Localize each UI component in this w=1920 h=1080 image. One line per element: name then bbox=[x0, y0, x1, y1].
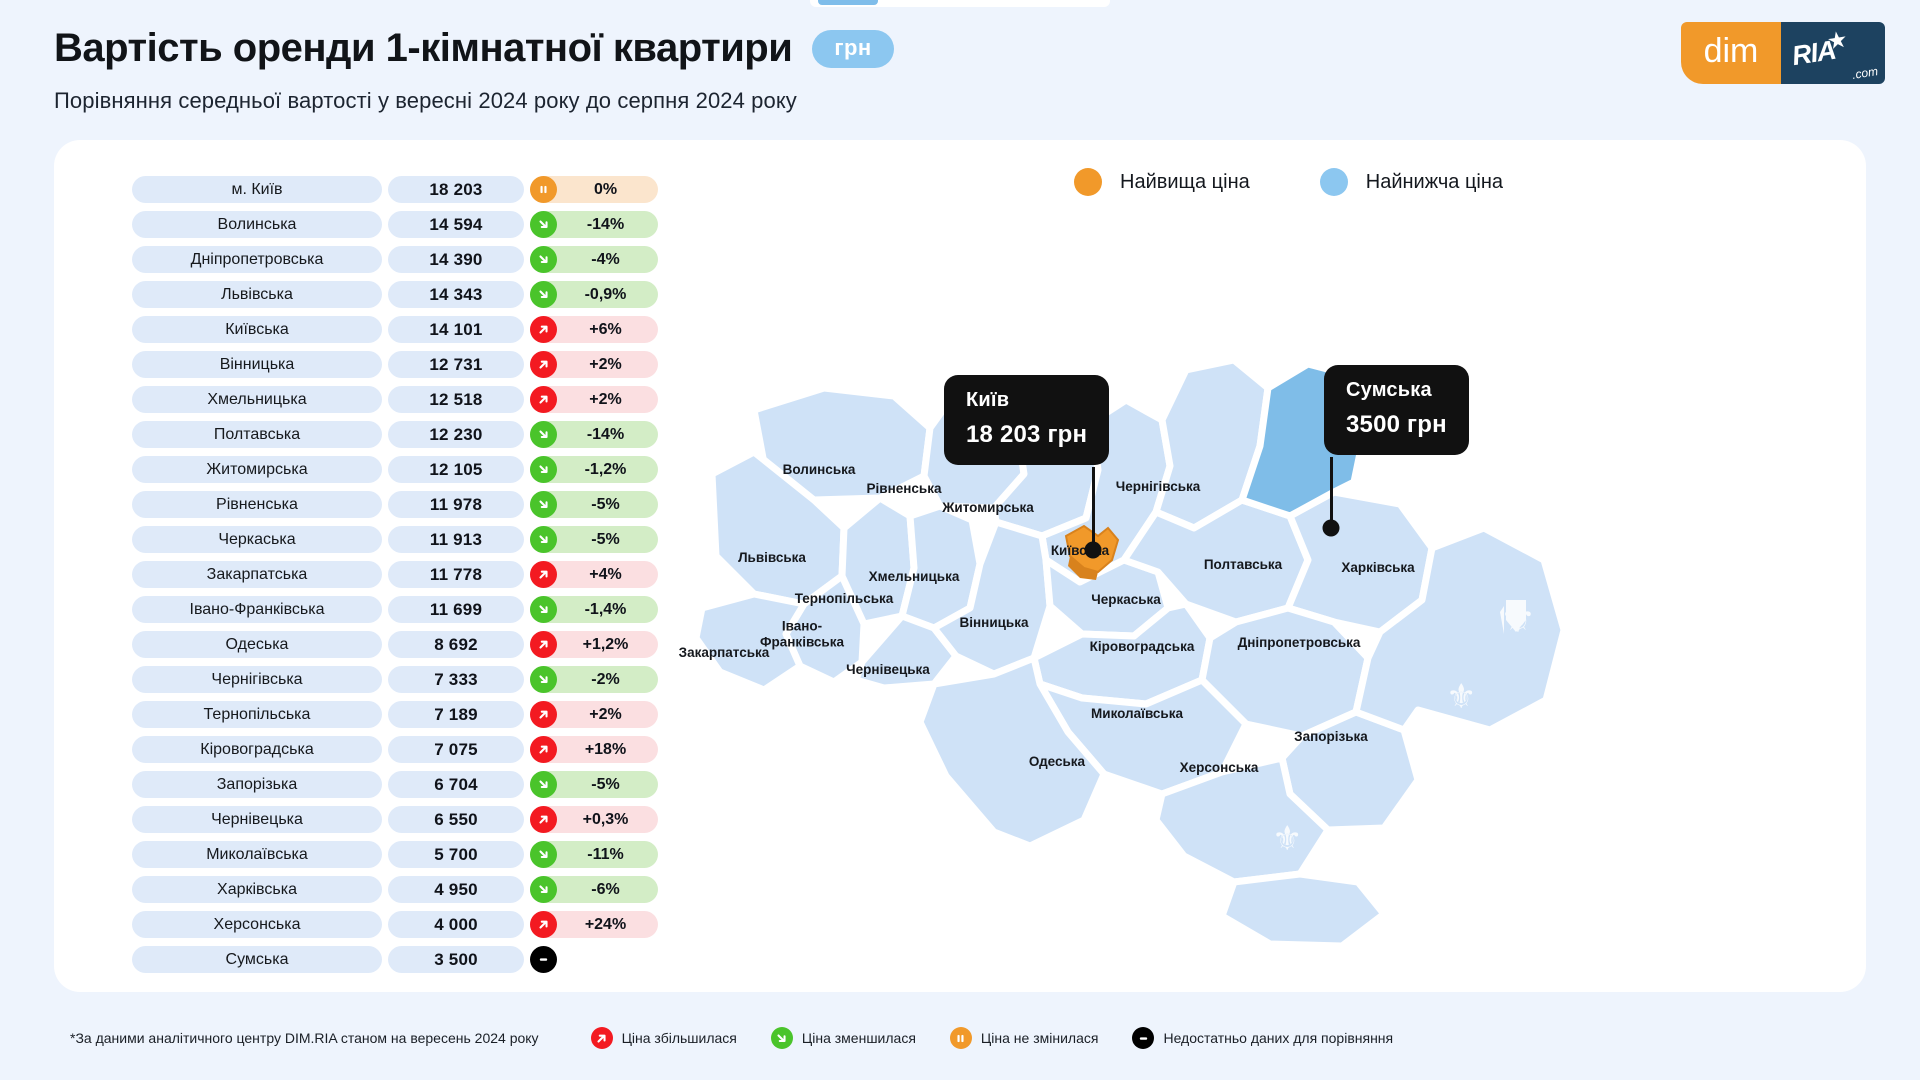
region-name: Дніпропетровська bbox=[132, 246, 382, 273]
minus-icon bbox=[1132, 1027, 1154, 1049]
table-row: Запорізька6 704-5% bbox=[132, 771, 712, 798]
table-row: Чернівецька6 550+0,3% bbox=[132, 806, 712, 833]
logo-dim-text: dim bbox=[1681, 22, 1781, 84]
region-name: Івано-Франківська bbox=[132, 596, 382, 623]
footer-legend-label: Ціна збільшилася bbox=[622, 1030, 737, 1046]
pause-icon bbox=[950, 1027, 972, 1049]
arrow-down-right-icon bbox=[771, 1027, 793, 1049]
arrow-down-right-icon bbox=[530, 596, 557, 623]
table-row: Хмельницька12 518+2% bbox=[132, 386, 712, 413]
footer-legend-items: Ціна збільшиласяЦіна зменшиласяЦіна не з… bbox=[591, 1027, 1394, 1049]
arrow-down-right-icon bbox=[530, 876, 557, 903]
region-change: -5% bbox=[530, 526, 658, 553]
region-price: 6 550 bbox=[388, 806, 524, 833]
region-change: -0,9% bbox=[530, 281, 658, 308]
region-name: Сумська bbox=[132, 946, 382, 973]
map-label: Рівненська bbox=[867, 481, 942, 497]
region-change-text: -0,9% bbox=[557, 286, 658, 304]
table-row: Вінницька12 731+2% bbox=[132, 351, 712, 378]
region-change: +1,2% bbox=[530, 631, 658, 658]
map-label: Закарпатська bbox=[679, 645, 770, 661]
region-price: 11 913 bbox=[388, 526, 524, 553]
region-change: +24% bbox=[530, 911, 658, 938]
table-row: Черкаська11 913-5% bbox=[132, 526, 712, 553]
region-price: 11 699 bbox=[388, 596, 524, 623]
region-change: -1,2% bbox=[530, 456, 658, 483]
arrow-down-right-icon bbox=[530, 281, 557, 308]
region-change: +4% bbox=[530, 561, 658, 588]
arrow-up-right-icon bbox=[530, 736, 557, 763]
region-price: 4 000 bbox=[388, 911, 524, 938]
callout-sumy-stem bbox=[1330, 457, 1333, 528]
map-label: Полтавська bbox=[1204, 557, 1282, 573]
region-price: 7 075 bbox=[388, 736, 524, 763]
region-name: Житомирська bbox=[132, 456, 382, 483]
region-price-table: м. Київ18 2030%Волинська14 594-14%Дніпро… bbox=[132, 176, 712, 981]
region-change: +2% bbox=[530, 386, 658, 413]
region-change: -4% bbox=[530, 246, 658, 273]
page-title: Вартість оренди 1-кімнатної квартири bbox=[54, 26, 792, 71]
region-name: Чернігівська bbox=[132, 666, 382, 693]
region-change-text: -4% bbox=[557, 251, 658, 269]
table-row: Харківська4 950-6% bbox=[132, 876, 712, 903]
table-row: Закарпатська11 778+4% bbox=[132, 561, 712, 588]
arrow-down-right-icon bbox=[530, 491, 557, 518]
region-change-text: -5% bbox=[557, 776, 658, 794]
callout-sumy-name: Сумська bbox=[1346, 379, 1447, 402]
region-change: +0,3% bbox=[530, 806, 658, 833]
arrow-down-right-icon bbox=[530, 771, 557, 798]
region-change-text: +24% bbox=[557, 916, 658, 934]
callout-kyiv-name: Київ bbox=[966, 389, 1087, 412]
region-name: Тернопільська bbox=[132, 701, 382, 728]
region-change-text: -11% bbox=[557, 846, 658, 864]
header: Вартість оренди 1-кімнатної квартири грн… bbox=[54, 26, 894, 114]
map-label: Чернігівська bbox=[1116, 479, 1201, 495]
region-price: 4 950 bbox=[388, 876, 524, 903]
region-change: -5% bbox=[530, 771, 658, 798]
region-price: 12 105 bbox=[388, 456, 524, 483]
region-price: 12 518 bbox=[388, 386, 524, 413]
arrow-down-right-icon bbox=[530, 246, 557, 273]
callout-kyiv-value: 18 203 грн bbox=[966, 421, 1087, 449]
map-label: Львівська bbox=[738, 550, 806, 566]
table-row: Миколаївська5 700-11% bbox=[132, 841, 712, 868]
table-row: Сумська3 500 bbox=[132, 946, 712, 973]
logo-ria-block: ★ RIA .com bbox=[1781, 22, 1885, 84]
arrow-up-right-icon bbox=[530, 351, 557, 378]
page-subtitle: Порівняння середньої вартості у вересні … bbox=[54, 88, 894, 114]
table-row: Кіровоградська7 075+18% bbox=[132, 736, 712, 763]
region-change: +2% bbox=[530, 701, 658, 728]
region-price: 11 778 bbox=[388, 561, 524, 588]
region-change-text: +18% bbox=[557, 741, 658, 759]
map-label: Одеська bbox=[1029, 754, 1085, 770]
region-name: Вінницька bbox=[132, 351, 382, 378]
map-label: Кіровоградська bbox=[1090, 639, 1195, 655]
map-label: Вінницька bbox=[960, 615, 1029, 631]
region-price: 6 704 bbox=[388, 771, 524, 798]
region-change-text: -1,4% bbox=[557, 601, 658, 619]
region-crimea bbox=[1222, 874, 1384, 946]
arrow-up-right-icon bbox=[530, 316, 557, 343]
region-change: +6% bbox=[530, 316, 658, 343]
region-name: Одеська bbox=[132, 631, 382, 658]
infographic-page: Вартість оренди 1-кімнатної квартири грн… bbox=[0, 0, 1920, 1080]
callout-kyiv: Київ 18 203 грн bbox=[944, 375, 1109, 465]
map-label: Хмельницька bbox=[869, 569, 960, 585]
footer-legend-label: Ціна не змінилася bbox=[981, 1030, 1099, 1046]
table-row: Полтавська12 230-14% bbox=[132, 421, 712, 448]
region-price: 12 230 bbox=[388, 421, 524, 448]
region-change-text: 0% bbox=[557, 181, 658, 199]
table-row: Херсонська4 000+24% bbox=[132, 911, 712, 938]
region-name: Черкаська bbox=[132, 526, 382, 553]
region-change: -6% bbox=[530, 876, 658, 903]
arrow-up-right-icon bbox=[530, 701, 557, 728]
callout-sumy: Сумська 3500 грн bbox=[1324, 365, 1469, 455]
logo-ria-text: RIA bbox=[1790, 35, 1838, 72]
callout-kyiv-dot bbox=[1085, 542, 1102, 559]
region-name: Волинська bbox=[132, 211, 382, 238]
region-change-text: +4% bbox=[557, 566, 658, 584]
map-label: Херсонська bbox=[1180, 760, 1259, 776]
map-label: Волинська bbox=[783, 462, 856, 478]
region-change: -11% bbox=[530, 841, 658, 868]
region-name: Запорізька bbox=[132, 771, 382, 798]
callout-sumy-dot bbox=[1323, 520, 1340, 537]
footer-legend-item: Ціна зменшилася bbox=[771, 1027, 916, 1049]
region-change-text: -6% bbox=[557, 881, 658, 899]
region-change: +2% bbox=[530, 351, 658, 378]
table-row: Одеська8 692+1,2% bbox=[132, 631, 712, 658]
region-change bbox=[530, 946, 658, 973]
arrow-down-right-icon bbox=[530, 841, 557, 868]
region-change-text: +0,3% bbox=[557, 811, 658, 829]
map-label: Чернівецька bbox=[846, 662, 930, 678]
table-row: Івано-Франківська11 699-1,4% bbox=[132, 596, 712, 623]
region-name: Кіровоградська bbox=[132, 736, 382, 763]
arrow-up-right-icon bbox=[530, 806, 557, 833]
table-row: Волинська14 594-14% bbox=[132, 211, 712, 238]
region-change-text: -5% bbox=[557, 531, 658, 549]
arrow-down-right-icon bbox=[530, 666, 557, 693]
callout-sumy-value: 3500 грн bbox=[1346, 411, 1447, 439]
footer-legend-item: Ціна збільшилася bbox=[591, 1027, 737, 1049]
legend-label: Найнижча ціна bbox=[1366, 171, 1503, 194]
region-price: 7 189 bbox=[388, 701, 524, 728]
footer-legend-label: Недостатньо даних для порівняння bbox=[1163, 1030, 1393, 1046]
region-change-text: +2% bbox=[557, 391, 658, 409]
region-price: 8 692 bbox=[388, 631, 524, 658]
region-price: 14 101 bbox=[388, 316, 524, 343]
map-label: Харківська bbox=[1341, 560, 1414, 576]
region-name: Закарпатська bbox=[132, 561, 382, 588]
svg-text:⚜: ⚜ bbox=[1272, 819, 1302, 859]
footer-source-note: *За даними аналітичного центру DIM.RIA с… bbox=[70, 1030, 539, 1046]
region-price: 14 390 bbox=[388, 246, 524, 273]
region-name: Чернівецька bbox=[132, 806, 382, 833]
region-name: Хмельницька bbox=[132, 386, 382, 413]
table-row: Рівненська11 978-5% bbox=[132, 491, 712, 518]
arrow-down-right-icon bbox=[530, 421, 557, 448]
region-name: м. Київ bbox=[132, 176, 382, 203]
region-name: Рівненська bbox=[132, 491, 382, 518]
region-change: -1,4% bbox=[530, 596, 658, 623]
arrow-up-right-icon bbox=[530, 911, 557, 938]
region-name: Херсонська bbox=[132, 911, 382, 938]
region-change-text: -14% bbox=[557, 426, 658, 444]
region-change: 0% bbox=[530, 176, 658, 203]
callout-kyiv-stem bbox=[1092, 467, 1095, 550]
region-change-text: +2% bbox=[557, 356, 658, 374]
footer-legend-item: Ціна не змінилася bbox=[950, 1027, 1099, 1049]
legend-label: Найвища ціна bbox=[1120, 171, 1250, 194]
region-name: Миколаївська bbox=[132, 841, 382, 868]
region-change: -14% bbox=[530, 421, 658, 448]
arrow-up-right-icon bbox=[530, 561, 557, 588]
arrow-up-right-icon bbox=[530, 386, 557, 413]
currency-badge: грн bbox=[812, 30, 893, 68]
region-change-text: +2% bbox=[557, 706, 658, 724]
content-card: м. Київ18 2030%Волинська14 594-14%Дніпро… bbox=[54, 140, 1866, 992]
map-label: Житомирська bbox=[942, 500, 1034, 516]
region-change: -2% bbox=[530, 666, 658, 693]
region-change-text: -1,2% bbox=[557, 461, 658, 479]
arrow-down-right-icon bbox=[530, 456, 557, 483]
region-price: 18 203 bbox=[388, 176, 524, 203]
svg-text:⚜: ⚜ bbox=[1500, 596, 1536, 642]
table-row: Чернігівська7 333-2% bbox=[132, 666, 712, 693]
title-row: Вартість оренди 1-кімнатної квартири грн bbox=[54, 26, 894, 71]
region-price: 14 594 bbox=[388, 211, 524, 238]
region-change-text: -5% bbox=[557, 496, 658, 514]
region-name: Київська bbox=[132, 316, 382, 343]
region-name: Харківська bbox=[132, 876, 382, 903]
table-row: Житомирська12 105-1,2% bbox=[132, 456, 712, 483]
footer-legend-item: Недостатньо даних для порівняння bbox=[1132, 1027, 1393, 1049]
region-price: 11 978 bbox=[388, 491, 524, 518]
region-change: +18% bbox=[530, 736, 658, 763]
map-label: Миколаївська bbox=[1091, 706, 1183, 722]
legend-item-low: Найнижча ціна bbox=[1320, 168, 1503, 196]
region-change: -5% bbox=[530, 491, 658, 518]
region-price: 5 700 bbox=[388, 841, 524, 868]
logo-com-text: .com bbox=[1851, 64, 1879, 82]
minus-icon bbox=[530, 946, 557, 973]
table-row: Дніпропетровська14 390-4% bbox=[132, 246, 712, 273]
region-change-text: -14% bbox=[557, 216, 658, 234]
region-change-text: +6% bbox=[557, 321, 658, 339]
arrow-up-right-icon bbox=[591, 1027, 613, 1049]
arrow-up-right-icon bbox=[530, 631, 557, 658]
table-row: Київська14 101+6% bbox=[132, 316, 712, 343]
arrow-down-right-icon bbox=[530, 211, 557, 238]
map-label: Тернопільська bbox=[795, 591, 894, 607]
footer-legend-label: Ціна зменшилася bbox=[802, 1030, 916, 1046]
table-row: м. Київ18 2030% bbox=[132, 176, 712, 203]
table-row: Тернопільська7 189+2% bbox=[132, 701, 712, 728]
region-change-text: -2% bbox=[557, 671, 658, 689]
region-name: Полтавська bbox=[132, 421, 382, 448]
map-label: Запорізька bbox=[1294, 729, 1368, 745]
legend-item-high: Найвища ціна bbox=[1074, 168, 1250, 196]
table-row: Львівська14 343-0,9% bbox=[132, 281, 712, 308]
region-price: 3 500 bbox=[388, 946, 524, 973]
top-accent-bar bbox=[818, 0, 878, 5]
legend-color-dot bbox=[1074, 168, 1102, 196]
dim-ria-logo[interactable]: dim ★ RIA .com bbox=[1681, 22, 1885, 84]
legend-color-dot bbox=[1320, 168, 1348, 196]
footer-legend: *За даними аналітичного центру DIM.RIA с… bbox=[70, 1027, 1393, 1049]
region-price: 7 333 bbox=[388, 666, 524, 693]
svg-text:⚜: ⚜ bbox=[1446, 677, 1476, 717]
map-label: Дніпропетровська bbox=[1238, 635, 1361, 651]
region-name: Львівська bbox=[132, 281, 382, 308]
region-change: -14% bbox=[530, 211, 658, 238]
region-price: 12 731 bbox=[388, 351, 524, 378]
arrow-down-right-icon bbox=[530, 526, 557, 553]
pause-icon bbox=[530, 176, 557, 203]
region-price: 14 343 bbox=[388, 281, 524, 308]
map-label: Черкаська bbox=[1091, 592, 1161, 608]
map-legend: Найвища цінаНайнижча ціна bbox=[1074, 168, 1503, 196]
ukraine-map: ⚜ ⚜ ⚜ ВолинськаРівненськаЖитомирськаЧерн… bbox=[694, 260, 1814, 960]
region-change-text: +1,2% bbox=[557, 636, 658, 654]
map-svg: ⚜ ⚜ ⚜ bbox=[694, 260, 1814, 960]
